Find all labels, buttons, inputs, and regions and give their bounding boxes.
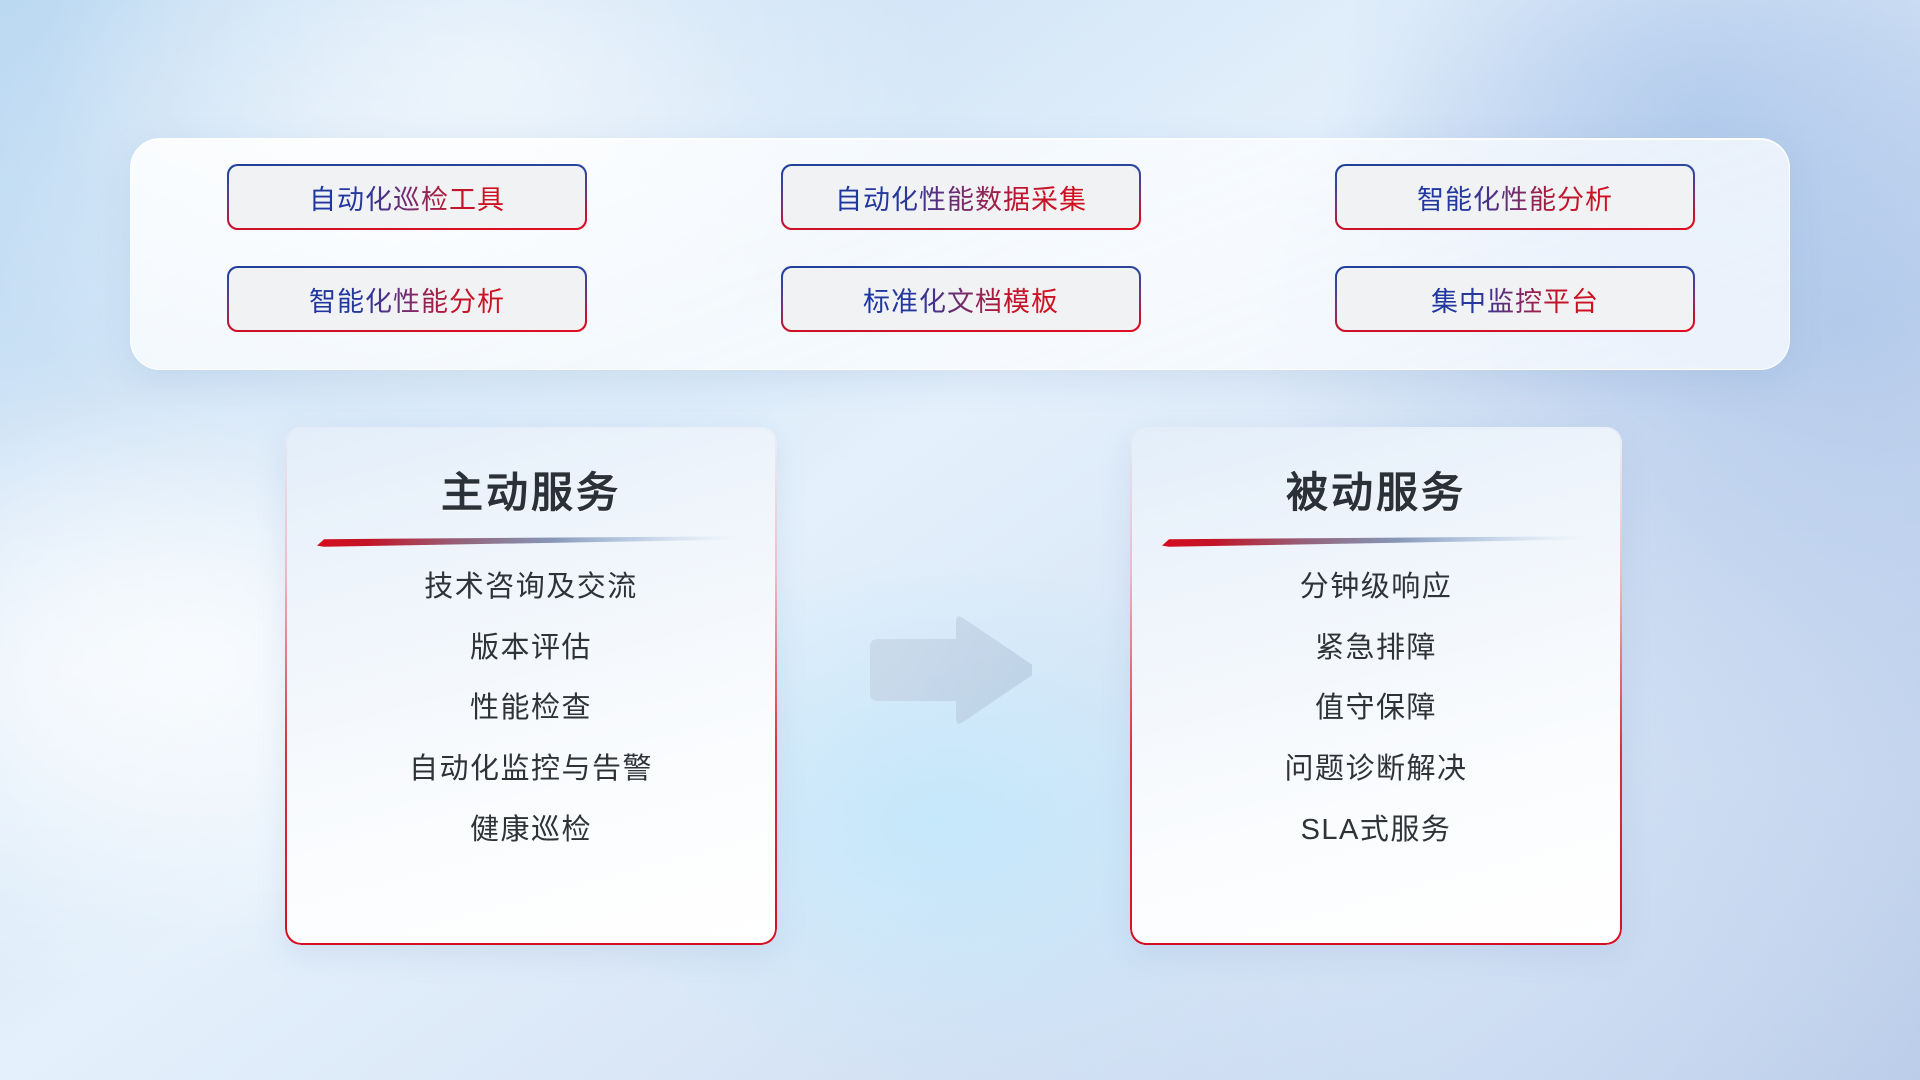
service-item-list: 技术咨询及交流 版本评估 性能检查 自动化监控与告警 健康巡检 xyxy=(285,569,777,849)
capability-tag-grid: 自动化巡检工具 自动化性能数据采集 智能化性能分析 智能化性能分析 标准化文档模… xyxy=(229,166,1693,346)
capability-tag[interactable]: 自动化性能数据采集 xyxy=(783,166,1139,228)
capability-tag[interactable]: 自动化巡检工具 xyxy=(229,166,585,228)
service-item-list: 分钟级响应 紧急排障 值守保障 问题诊断解决 SLA式服务 xyxy=(1130,569,1622,849)
list-item: 版本评估 xyxy=(470,630,592,668)
card-divider xyxy=(1162,536,1590,547)
list-item: 紧急排障 xyxy=(1315,630,1437,668)
card-divider xyxy=(317,536,745,547)
capability-tag[interactable]: 智能化性能分析 xyxy=(1337,166,1693,228)
list-item: 健康巡检 xyxy=(470,812,592,850)
capability-tag-label: 智能化性能分析 xyxy=(1417,178,1613,217)
capability-tag-label: 智能化性能分析 xyxy=(309,280,505,319)
capability-tag[interactable]: 智能化性能分析 xyxy=(229,268,585,330)
list-item: SLA式服务 xyxy=(1301,812,1452,850)
card-title: 被动服务 xyxy=(1130,459,1622,520)
slide-canvas: 自动化巡检工具 自动化性能数据采集 智能化性能分析 智能化性能分析 标准化文档模… xyxy=(0,0,1920,1080)
list-item: 问题诊断解决 xyxy=(1284,751,1467,789)
card-title: 主动服务 xyxy=(285,459,777,520)
service-card-reactive: 被动服务 分钟级响应 紧急排障 值守保障 xyxy=(1130,427,1622,945)
capability-tag-label: 自动化巡检工具 xyxy=(309,178,505,217)
capability-tag-label: 集中监控平台 xyxy=(1431,280,1599,319)
capability-tags-panel: 自动化巡检工具 自动化性能数据采集 智能化性能分析 智能化性能分析 标准化文档模… xyxy=(130,138,1790,370)
capability-tag[interactable]: 集中监控平台 xyxy=(1337,268,1693,330)
service-card-proactive: 主动服务 技术咨询及交流 版本评估 性能检查 xyxy=(285,427,777,945)
capability-tag[interactable]: 标准化文档模板 xyxy=(783,268,1139,330)
capability-tag-label: 标准化文档模板 xyxy=(863,280,1059,319)
capability-tag-label: 自动化性能数据采集 xyxy=(835,178,1087,217)
list-item: 值守保障 xyxy=(1315,690,1437,728)
list-item: 自动化监控与告警 xyxy=(409,751,653,789)
arrow-right-icon xyxy=(862,614,1032,732)
list-item: 性能检查 xyxy=(470,690,592,728)
list-item: 分钟级响应 xyxy=(1300,569,1453,607)
list-item: 技术咨询及交流 xyxy=(424,569,638,607)
